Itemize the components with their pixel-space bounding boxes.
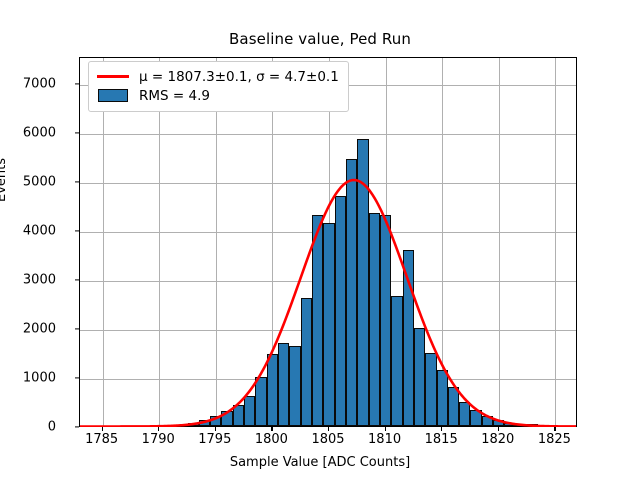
- y-tick-label: 6000: [23, 125, 56, 140]
- figure: Baseline value, Ped Run 0100020003000400…: [0, 0, 640, 480]
- x-tick-mark: [271, 427, 272, 431]
- x-tick-mark: [385, 427, 386, 431]
- y-tick-label: 0: [48, 420, 56, 435]
- x-tick-mark: [328, 427, 329, 431]
- x-tick-label: 1825: [538, 432, 571, 447]
- x-tick-mark: [498, 427, 499, 431]
- y-tick-mark: [75, 181, 79, 182]
- legend-entry-fit: μ = 1807.3±0.1, σ = 4.7±0.1: [96, 67, 339, 86]
- plot-area: [79, 57, 577, 427]
- y-tick-label: 5000: [23, 174, 56, 189]
- y-tick-label: 4000: [23, 223, 56, 238]
- y-tick-mark: [75, 377, 79, 378]
- y-tick-mark: [75, 279, 79, 280]
- chart-title: Baseline value, Ped Run: [0, 30, 640, 48]
- legend-line-swatch: [96, 75, 130, 78]
- gaussian-fit-curve: [80, 58, 576, 427]
- x-tick-label: 1785: [85, 432, 118, 447]
- y-tick-label: 3000: [23, 272, 56, 287]
- x-tick-label: 1805: [311, 432, 344, 447]
- y-tick-mark: [75, 230, 79, 231]
- x-tick-label: 1810: [368, 432, 401, 447]
- y-tick-mark: [75, 426, 79, 427]
- x-tick-mark: [158, 427, 159, 431]
- y-tick-mark: [75, 83, 79, 84]
- legend-entry-histogram: RMS = 4.9: [96, 86, 339, 105]
- x-tick-label: 1790: [142, 432, 175, 447]
- legend-patch-swatch: [96, 89, 130, 102]
- x-tick-label: 1820: [481, 432, 514, 447]
- x-tick-mark: [215, 427, 216, 431]
- x-tick-mark: [102, 427, 103, 431]
- y-tick-label: 2000: [23, 321, 56, 336]
- x-tick-label: 1795: [198, 432, 231, 447]
- y-tick-mark: [75, 132, 79, 133]
- legend-label-fit: μ = 1807.3±0.1, σ = 4.7±0.1: [139, 69, 339, 85]
- y-axis-label: Events: [0, 120, 9, 240]
- x-tick-label: 1800: [255, 432, 288, 447]
- legend[interactable]: μ = 1807.3±0.1, σ = 4.7±0.1 RMS = 4.9: [88, 61, 349, 112]
- legend-label-histogram: RMS = 4.9: [139, 88, 210, 104]
- y-tick-label: 1000: [23, 370, 56, 385]
- y-tick-mark: [75, 328, 79, 329]
- y-tick-label: 7000: [23, 76, 56, 91]
- x-axis-label: Sample Value [ADC Counts]: [0, 455, 640, 470]
- x-tick-mark: [441, 427, 442, 431]
- x-tick-mark: [554, 427, 555, 431]
- x-tick-label: 1815: [425, 432, 458, 447]
